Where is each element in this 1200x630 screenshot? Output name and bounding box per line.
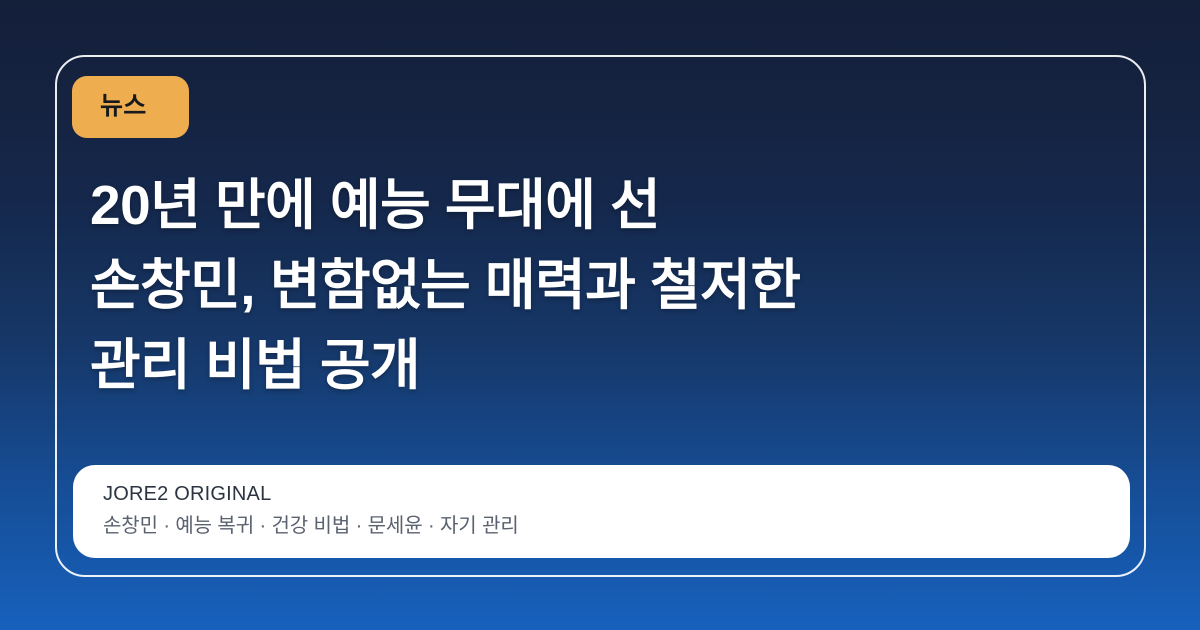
news-card-canvas: 뉴스 20년 만에 예능 무대에 선 손창민, 변함없는 매력과 철저한 관리 … [0,0,1200,630]
footer-container: JORE2 ORIGINAL 손창민 · 예능 복귀 · 건강 비법 · 문세윤… [55,465,1146,577]
source-label: JORE2 ORIGINAL [103,481,1100,508]
headline-title: 20년 만에 예능 무대에 선 손창민, 변함없는 매력과 철저한 관리 비법 … [90,165,1106,405]
card-content: 뉴스 20년 만에 예능 무대에 선 손창민, 변함없는 매력과 철저한 관리 … [55,55,1146,577]
badge-row: 뉴스 [55,55,1146,138]
tag-list: 손창민 · 예능 복귀 · 건강 비법 · 문세윤 · 자기 관리 [103,512,1100,540]
headline-container: 20년 만에 예능 무대에 선 손창민, 변함없는 매력과 철저한 관리 비법 … [55,138,1146,465]
category-badge[interactable]: 뉴스 [72,76,189,138]
footer-card: JORE2 ORIGINAL 손창민 · 예능 복귀 · 건강 비법 · 문세윤… [73,465,1130,558]
